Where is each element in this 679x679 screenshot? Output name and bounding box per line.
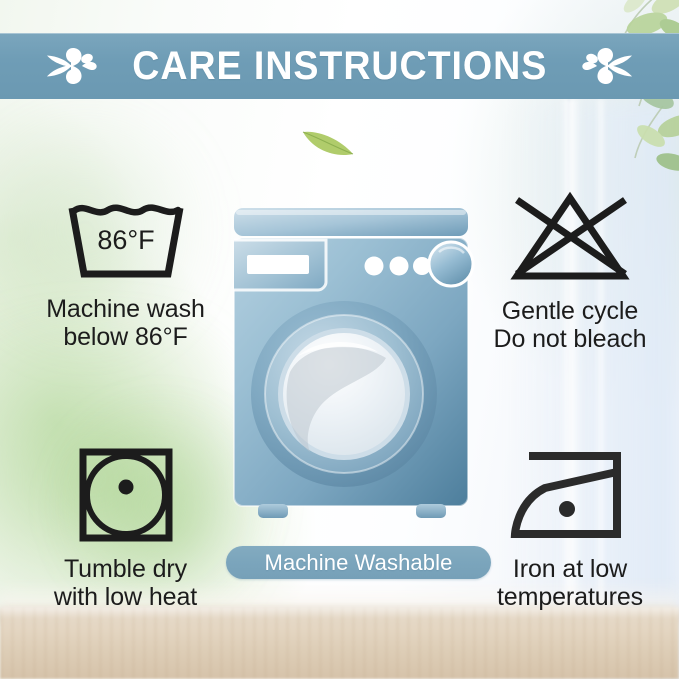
care-item-do-not-bleach: Gentle cycle Do not bleach (470, 190, 670, 353)
tumble-dry-low-icon (77, 446, 175, 549)
triangle-crossed-icon (501, 190, 639, 291)
machine-washable-badge: Machine Washable (226, 546, 491, 579)
page-title: CARE INSTRUCTIONS (132, 46, 547, 86)
care-instructions-card: CARE INSTRUCTIONS 86°F Machine wash bel (0, 0, 679, 679)
wooden-table-surface (0, 607, 679, 679)
care-item-iron-low: Iron at low temperatures (470, 446, 670, 611)
care-item-label: Tumble dry with low heat (54, 555, 197, 611)
care-item-tumble-dry: Tumble dry with low heat (18, 446, 233, 611)
care-item-label: Machine wash below 86°F (46, 295, 205, 351)
wash-tub-icon: 86°F (62, 196, 190, 289)
care-item-machine-wash: 86°F Machine wash below 86°F (18, 196, 233, 351)
washing-machine-illustration (226, 204, 476, 534)
svg-text:86°F: 86°F (97, 225, 154, 255)
header-band: CARE INSTRUCTIONS (0, 33, 679, 99)
floating-leaf-icon (299, 122, 359, 162)
iron-one-dot-icon (505, 446, 635, 549)
fleur-de-lis-icon-right (580, 44, 636, 88)
badge-label: Machine Washable (265, 550, 453, 576)
care-item-label: Gentle cycle Do not bleach (494, 297, 647, 353)
fleur-de-lis-icon-left (43, 44, 99, 88)
care-item-label: Iron at low temperatures (497, 555, 643, 611)
